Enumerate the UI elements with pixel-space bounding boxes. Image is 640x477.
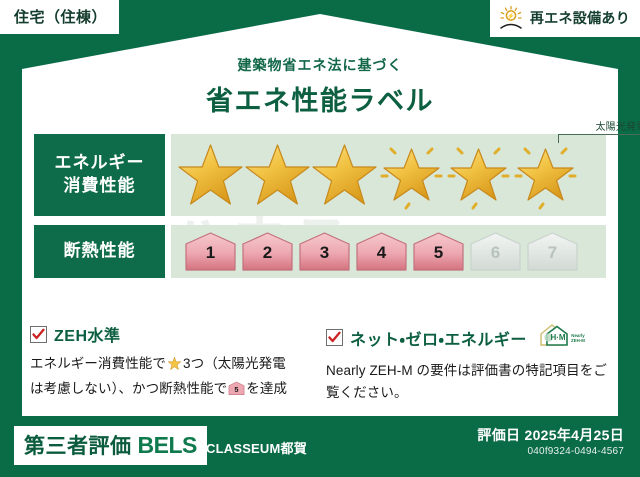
renewable-equipment-tag: ⚡ 再エネ設備あり: [490, 0, 640, 37]
insulation-level-number: 1: [183, 244, 238, 261]
evaluation-date: 評価日 2025年4月25日: [477, 425, 624, 445]
energy-label-line2: 消費性能: [64, 175, 136, 198]
sun-icon: ⚡: [498, 5, 524, 31]
footer: 第三者評価 BELS CLASSEUM都賀 評価日 2025年4月25日 040…: [0, 416, 640, 477]
bels-logo-text: BELS: [138, 432, 197, 459]
zeh-body-part1: エネルギー消費性能で: [30, 356, 166, 371]
insulation-performance-row: 断熱性能: [34, 225, 606, 278]
zeh-standard-title: ZEH水準: [54, 322, 121, 346]
dwelling-type-label: 住宅（住棟）: [14, 9, 107, 26]
insulation-level-number: 5: [411, 244, 466, 261]
net-zero-energy-header: ネット・ゼロ・エネルギー H·M Nearly ZEH-M: [326, 322, 610, 353]
star-plain: [177, 136, 244, 214]
zeh-standard-header: ZEH水準: [30, 322, 320, 346]
inline-level-badge: 5: [228, 381, 245, 403]
svg-text:H·M: H·M: [550, 333, 565, 342]
star-plain: [244, 136, 311, 214]
energy-performance-label: ハウス 住宅（住棟） ⚡ 再エネ設備あり: [0, 0, 640, 477]
insulation-level-5: 5: [411, 231, 466, 273]
star-list: [171, 134, 606, 216]
svg-text:ZEH-M: ZEH-M: [571, 338, 585, 343]
star-sparkle: [512, 136, 579, 214]
zeh-standard-body: エネルギー消費性能で3つ（太陽光発電は考慮しない）、かつ断熱性能で5を達成: [30, 353, 320, 403]
title-heading: 省エネ性能ラベル: [0, 79, 640, 118]
svg-text:⚡: ⚡: [507, 12, 514, 20]
energy-label-line1: エネルギー: [55, 152, 145, 175]
notes-section: ZEH水準 エネルギー消費性能で3つ（太陽光発電は考慮しない）、かつ断熱性能で5…: [30, 322, 610, 404]
zeh-body-part3: は考慮しない）、かつ断熱性能で: [30, 381, 227, 396]
title-subtitle: 建築物省エネ法に基づく: [0, 55, 640, 75]
dwelling-type-tag: 住宅（住棟）: [0, 0, 119, 34]
energy-performance-label-box: エネルギー 消費性能: [34, 134, 165, 216]
zeh-standard-note: ZEH水準 エネルギー消費性能で3つ（太陽光発電は考慮しない）、かつ断熱性能で5…: [30, 322, 320, 404]
insulation-level-1: 1: [183, 231, 238, 273]
evaluation-id: 040f9324-0494-4567: [528, 446, 624, 457]
zeh-m-logo-icon: H·M Nearly ZEH-M: [538, 322, 588, 353]
renewable-equipment-label: 再エネ設備あり: [530, 8, 630, 28]
insulation-level-track: 1 2 3: [171, 225, 606, 278]
svg-text:5: 5: [235, 385, 239, 394]
insulation-level-number: 7: [525, 244, 580, 261]
property-name: CLASSEUM都賀: [206, 438, 307, 457]
energy-star-track: 太陽光発電(自家消費)分: [171, 134, 606, 216]
insulation-level-number: 2: [240, 244, 295, 261]
zeh-body-part4: を達成: [246, 381, 287, 396]
net-zero-energy-body: Nearly ZEH-M の要件は評価書の特記項目をご覧ください。: [326, 360, 610, 404]
insulation-label: 断熱性能: [64, 240, 136, 263]
third-party-eval-label: 第三者評価: [24, 430, 132, 460]
zeh-body-part2: 3つ（太陽光発電: [183, 356, 286, 371]
insulation-level-number: 4: [354, 244, 409, 261]
insulation-level-number: 3: [297, 244, 352, 261]
insulation-level-number: 6: [468, 244, 523, 261]
net-zero-energy-title: ネット・ゼロ・エネルギー: [350, 326, 527, 350]
insulation-level-4: 4: [354, 231, 409, 273]
insulation-performance-label-box: 断熱性能: [34, 225, 165, 278]
star-sparkle: [378, 136, 445, 214]
inline-star-icon: [167, 356, 182, 378]
net-zero-energy-note: ネット・ゼロ・エネルギー H·M Nearly ZEH-M Nearly ZEH…: [320, 322, 610, 404]
insulation-level-list: 1 2 3: [171, 225, 606, 278]
energy-performance-row: エネルギー 消費性能 太陽光発電(自家消費)分: [34, 134, 606, 216]
insulation-level-3: 3: [297, 231, 352, 273]
page-title: 建築物省エネ法に基づく 省エネ性能ラベル: [0, 55, 640, 118]
insulation-level-6: 6: [468, 231, 523, 273]
star-plain: [311, 136, 378, 214]
insulation-level-7: 7: [525, 231, 580, 273]
bels-plate: 第三者評価 BELS: [14, 426, 207, 465]
ratings-panel: エネルギー 消費性能 太陽光発電(自家消費)分: [34, 134, 606, 278]
checkbox-checked-icon: [30, 326, 47, 343]
checkbox-checked-icon: [326, 329, 343, 346]
star-sparkle: [445, 136, 512, 214]
insulation-level-2: 2: [240, 231, 295, 273]
